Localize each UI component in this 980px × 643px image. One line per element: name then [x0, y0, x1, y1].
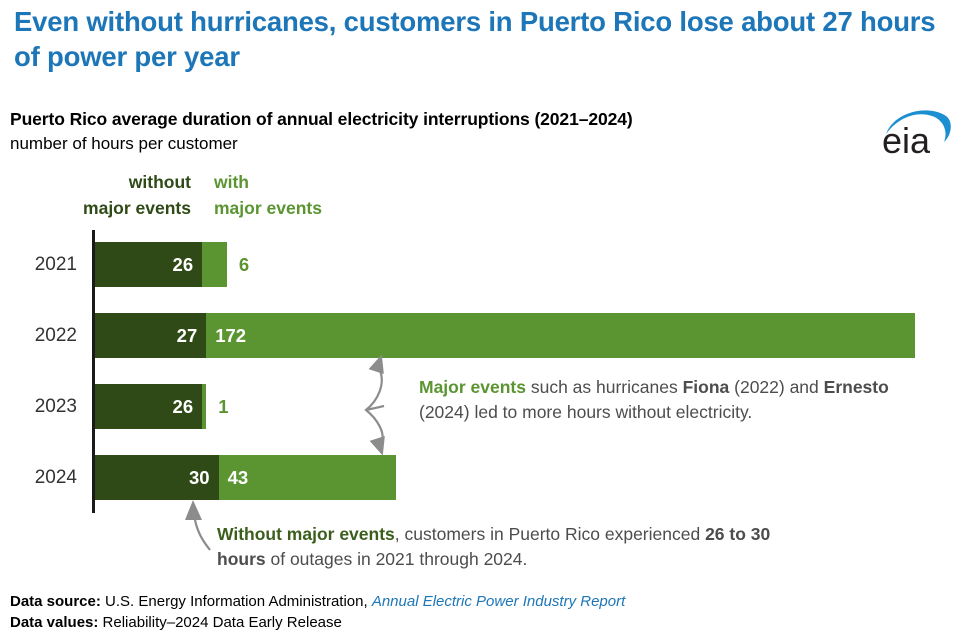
footer-source-line: Data source: U.S. Energy Information Adm…	[10, 591, 625, 612]
eia-logo: eia	[880, 106, 954, 158]
chart-subtitle: Puerto Rico average duration of annual e…	[10, 109, 633, 130]
footer-source-text: U.S. Energy Information Administration,	[101, 593, 372, 610]
annotation-without-major-events: Without major events, customers in Puert…	[217, 522, 797, 572]
annotation-without-tail: of outages in 2021 through 2024.	[266, 549, 528, 569]
legend-without-line2: major events	[0, 195, 191, 221]
page-title: Even without hurricanes, customers in Pu…	[14, 4, 944, 74]
footer-divider	[0, 585, 980, 586]
bar-value-without-major-events: 26	[173, 242, 194, 287]
chart-axis-line	[92, 230, 95, 513]
major-events-connector	[358, 352, 428, 457]
annotation-major-tail: (2024) led to more hours without electri…	[419, 402, 752, 422]
annotation-major-lead: Major events	[419, 377, 526, 397]
legend-with-line2: major events	[214, 195, 322, 221]
annotation-without-lead: Without major events	[217, 524, 395, 544]
legend-without-line1: without	[0, 169, 191, 195]
footer-source: Data source: U.S. Energy Information Adm…	[10, 591, 625, 634]
annotation-major-name2: Ernesto	[824, 377, 889, 397]
annotation-major-mid1: such as hurricanes	[526, 377, 683, 397]
eia-logo-icon: eia	[880, 106, 954, 158]
chart-units-label: number of hours per customer	[10, 134, 238, 154]
bar-row-year-label: 2022	[0, 313, 77, 358]
bar-segment-without-major-events: 27	[95, 313, 206, 358]
bar-segment-without-major-events: 30	[95, 455, 219, 500]
bar-row-year-label: 2023	[0, 384, 77, 429]
legend-without-major-events: without major events	[0, 169, 191, 222]
annotation-major-name1: Fiona	[683, 377, 730, 397]
bar-value-without-major-events: 30	[189, 455, 210, 500]
bar-row-year-label: 2021	[0, 242, 77, 287]
bar-segment-without-major-events: 26	[95, 242, 202, 287]
footer-values-label: Data values:	[10, 614, 98, 631]
footer-values-line: Data values: Reliability–2024 Data Early…	[10, 612, 625, 633]
bar-value-without-major-events: 27	[177, 313, 198, 358]
legend-with-line1: with	[214, 169, 322, 195]
footer-source-label: Data source:	[10, 593, 101, 610]
annotation-without-mid1: , customers in Puerto Rico experienced	[395, 524, 705, 544]
bar-segment-with-major-events	[202, 242, 227, 287]
bar-value-without-major-events: 26	[173, 384, 194, 429]
bar-value-with-major-events: 1	[218, 384, 228, 429]
bar-segment-with-major-events: 172	[206, 313, 915, 358]
legend-with-major-events: with major events	[214, 169, 322, 222]
bar-value-with-major-events: 6	[239, 242, 249, 287]
bar-segment-with-major-events: 43	[219, 455, 396, 500]
bar-value-with-major-events: 43	[228, 455, 249, 500]
annotation-major-mid2: (2022) and	[729, 377, 823, 397]
bar-segment-with-major-events	[202, 384, 206, 429]
bar-row-year-label: 2024	[0, 455, 77, 500]
bar-segment-without-major-events: 26	[95, 384, 202, 429]
footer-source-link[interactable]: Annual Electric Power Industry Report	[372, 593, 625, 610]
annotation-major-events: Major events such as hurricanes Fiona (2…	[419, 375, 889, 425]
footer-values-text: Reliability–2024 Data Early Release	[98, 614, 341, 631]
svg-text:eia: eia	[882, 120, 931, 158]
bar-value-with-major-events: 172	[215, 313, 246, 358]
